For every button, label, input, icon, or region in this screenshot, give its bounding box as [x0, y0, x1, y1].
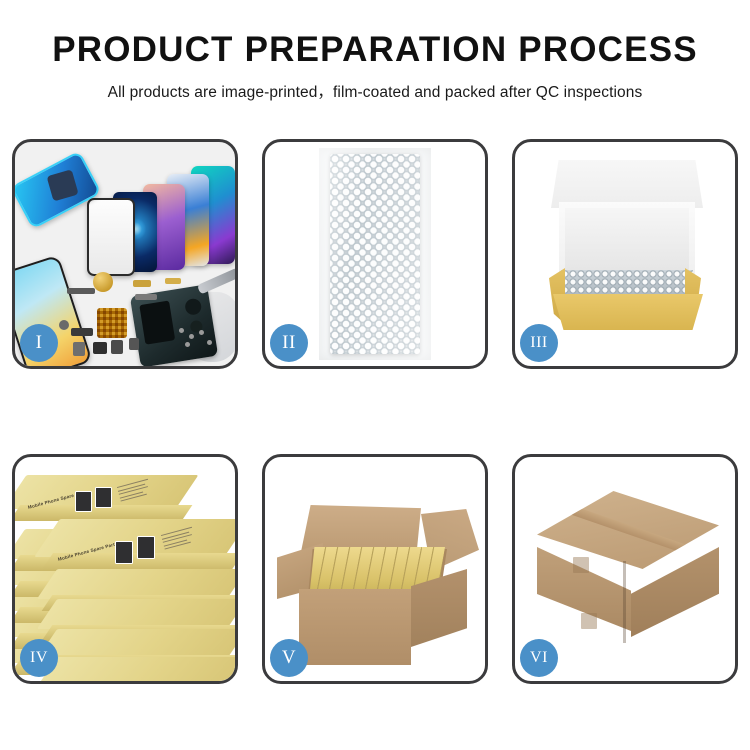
small-part-5 [111, 340, 123, 354]
carton-patch-bottom [581, 613, 597, 629]
small-part-4 [93, 342, 107, 354]
carton-front-face [299, 589, 411, 665]
step-panel-1: I [12, 139, 238, 369]
plastic-sheen [319, 148, 431, 360]
step-number-badge-5: V [270, 639, 308, 677]
step-number-badge-4: IV [20, 639, 58, 677]
small-part-3 [73, 342, 85, 356]
step-panel-5: V [262, 454, 488, 684]
mailer-front-panel [553, 294, 703, 330]
page-subtitle: All products are image-printed，film-coat… [0, 80, 750, 102]
step-number-badge-2: II [270, 324, 308, 362]
mailer-inner-liner [565, 208, 689, 270]
box-screen-image-2b [137, 536, 155, 559]
box-screen-image-1a [75, 491, 92, 512]
stacked-box-r5 [47, 657, 235, 681]
step-panel-4: Mobile Phone Spare Parts Mobile Phone Sp… [12, 454, 238, 684]
mailer-lid [551, 160, 703, 208]
small-part-2 [71, 328, 93, 336]
small-part-9 [59, 320, 69, 330]
process-steps-grid: I II III [12, 139, 738, 674]
mailer-bubble-contents [561, 270, 693, 296]
step-number-badge-3: III [520, 324, 558, 362]
sealing-tape [537, 491, 719, 569]
small-part-10 [165, 278, 181, 284]
screws-group [179, 328, 213, 350]
bubble-wrap-pouch [319, 148, 431, 360]
step-number-badge-6: VI [520, 639, 558, 677]
phone-white-frame [87, 198, 135, 276]
small-part-8 [135, 294, 157, 300]
gold-disc-part [93, 272, 113, 292]
connector-grid [97, 308, 127, 338]
box-screen-image-1b [95, 487, 112, 508]
tweezers-icon [197, 267, 235, 294]
small-part-6 [129, 338, 139, 350]
step-number-badge-1: I [20, 324, 58, 362]
carton-corner-seam [623, 561, 626, 643]
box-screen-image-2a [115, 541, 133, 564]
flex-cable-part [67, 288, 95, 294]
step-panel-2: II [262, 139, 488, 369]
step-panel-6: VI [512, 454, 738, 684]
small-part-7 [133, 280, 151, 287]
step-panel-3: III [512, 139, 738, 369]
page-header: PRODUCT PREPARATION PROCESS All products… [0, 0, 750, 102]
page-title: PRODUCT PREPARATION PROCESS [0, 32, 750, 69]
carton-patch-top [573, 557, 589, 573]
